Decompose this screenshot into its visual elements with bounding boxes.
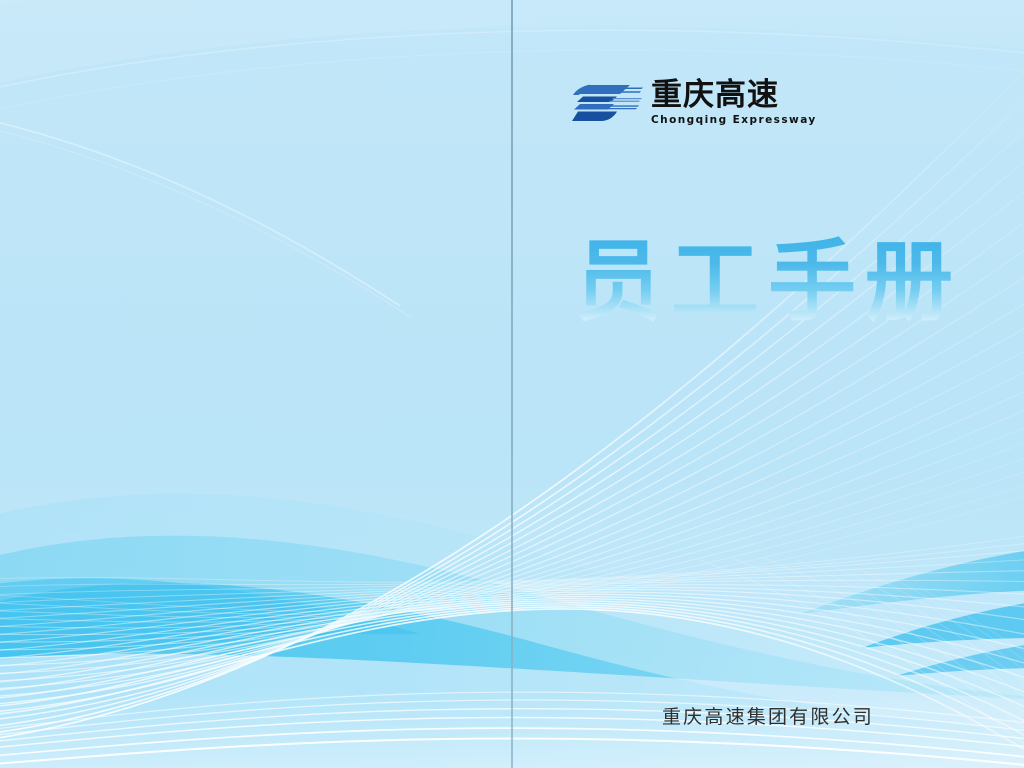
- top-left-diagonal: [0, 118, 400, 306]
- logo-name-en: Chongqing Expressway: [651, 115, 817, 126]
- chongqing-expressway-speed-mark: [570, 81, 644, 125]
- cover-page: 重庆高速 Chongqing Expressway 员工手册 重庆高速集团有限公…: [0, 0, 1024, 768]
- right-wedges: [800, 548, 1024, 676]
- brand-logo: 重庆高速 Chongqing Expressway: [570, 80, 817, 125]
- company-name: 重庆高速集团有限公司: [512, 702, 1024, 729]
- line-fan-corner: [700, 558, 1024, 768]
- page-title: 员工手册: [574, 236, 974, 328]
- spine-fold-line: [511, 0, 513, 768]
- logo-name-cn: 重庆高速: [651, 80, 779, 112]
- logo-wordmark: 重庆高速 Chongqing Expressway: [651, 80, 817, 125]
